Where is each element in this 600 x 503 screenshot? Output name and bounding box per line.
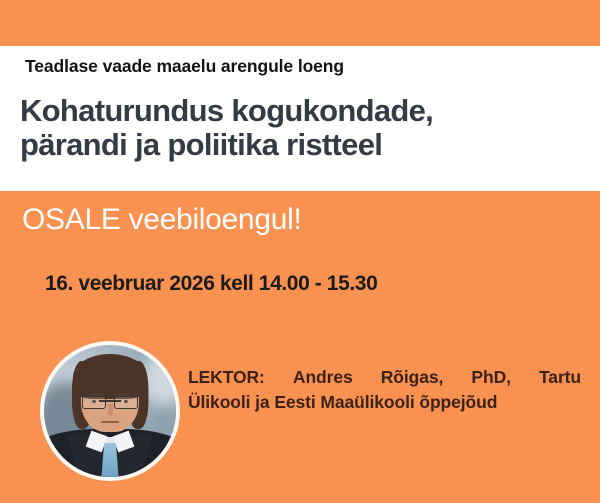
glasses-lens-left [82,396,105,409]
eyebrow-text: Teadlase vaade maaelu arengule loeng [25,56,344,77]
event-poster: Teadlase vaade maaelu arengule loeng Koh… [0,0,600,503]
portrait-photo [44,345,176,477]
call-to-action-text: OSALE veebiloengul! [22,203,302,237]
event-datetime: 16. veebruar 2026 kell 14.00 - 15.30 [45,272,377,296]
page-title: Kohaturundus kogukondade, pärandi ja pol… [20,94,580,162]
portrait-necktie [101,443,118,477]
portrait-hair-top [73,354,147,399]
avatar [40,341,180,481]
lecturer-line-1: LEKTOR:AndresRõigas,PhD,Tartu [188,365,581,390]
lecturer-info: LEKTOR:AndresRõigas,PhD,Tartu Ülikooli j… [188,365,581,416]
lecturer-line-2: Ülikooli ja Eesti Maaülikooli õppejõud [188,390,581,415]
headline-line-1: Kohaturundus kogukondade, [20,94,580,128]
glasses-bridge [99,400,120,401]
glasses-lens-right [114,396,137,409]
portrait-mouth [101,421,118,423]
headline-line-2: pärandi ja poliitika ristteel [20,128,580,162]
